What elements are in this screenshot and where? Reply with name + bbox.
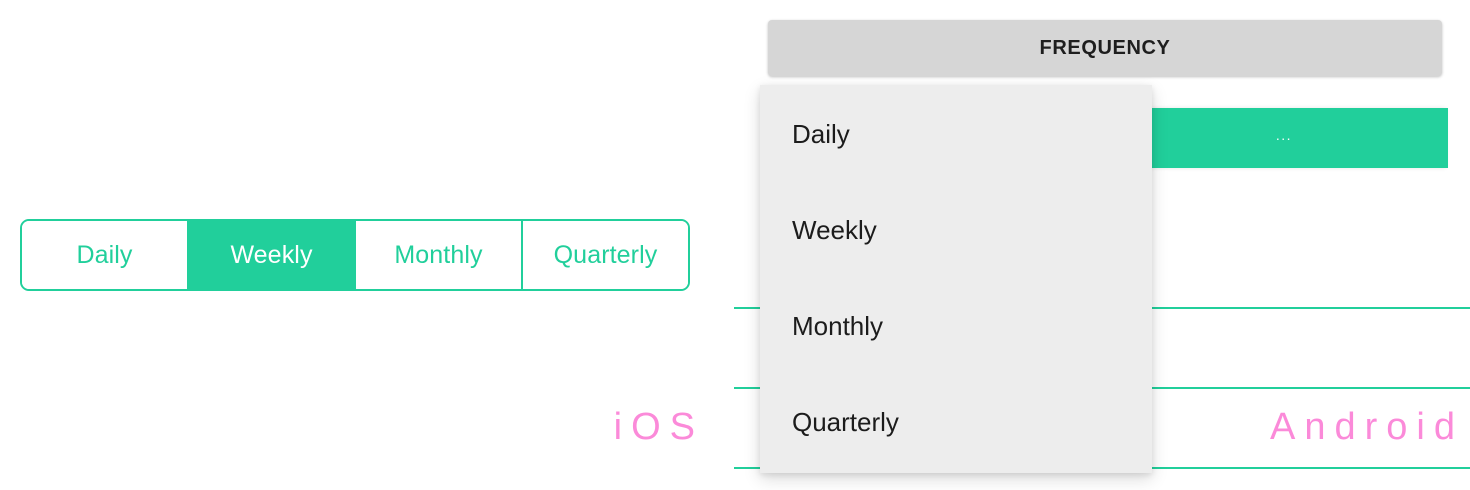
frequency-value-bar[interactable]: ...	[1120, 108, 1448, 168]
android-panel: FREQUENCY ... Daily Weekly Monthly Quart…	[720, 0, 1470, 490]
segment-daily[interactable]: Daily	[22, 221, 189, 289]
segment-quarterly[interactable]: Quarterly	[523, 221, 688, 289]
frequency-header-label: FREQUENCY	[1040, 37, 1171, 60]
menu-item-quarterly[interactable]: Quarterly	[792, 407, 899, 438]
segment-weekly[interactable]: Weekly	[189, 221, 356, 289]
frequency-header-button[interactable]: FREQUENCY	[768, 20, 1442, 76]
segment-quarterly-label: Quarterly	[554, 241, 658, 270]
segment-weekly-label: Weekly	[230, 241, 312, 270]
android-platform-caption: Android	[1270, 408, 1464, 446]
segment-daily-label: Daily	[76, 241, 132, 270]
menu-item-monthly[interactable]: Monthly	[792, 311, 883, 342]
menu-item-monthly-label: Monthly	[792, 311, 883, 341]
segment-monthly[interactable]: Monthly	[356, 221, 523, 289]
segment-monthly-label: Monthly	[394, 241, 482, 270]
menu-item-weekly-label: Weekly	[792, 215, 877, 245]
frequency-value-label: ...	[1276, 128, 1292, 142]
comparison-screenshot: Daily Weekly Monthly Quarterly iOS FREQU…	[0, 0, 1470, 490]
ios-panel: Daily Weekly Monthly Quarterly iOS	[0, 0, 720, 490]
ios-platform-caption: iOS	[614, 408, 704, 446]
frequency-segmented-control[interactable]: Daily Weekly Monthly Quarterly	[20, 219, 690, 291]
frequency-dropdown-menu[interactable]: Daily Weekly Monthly Quarterly	[760, 85, 1152, 473]
menu-item-daily[interactable]: Daily	[792, 119, 850, 150]
menu-item-daily-label: Daily	[792, 119, 850, 149]
menu-item-weekly[interactable]: Weekly	[792, 215, 877, 246]
menu-item-quarterly-label: Quarterly	[792, 407, 899, 437]
